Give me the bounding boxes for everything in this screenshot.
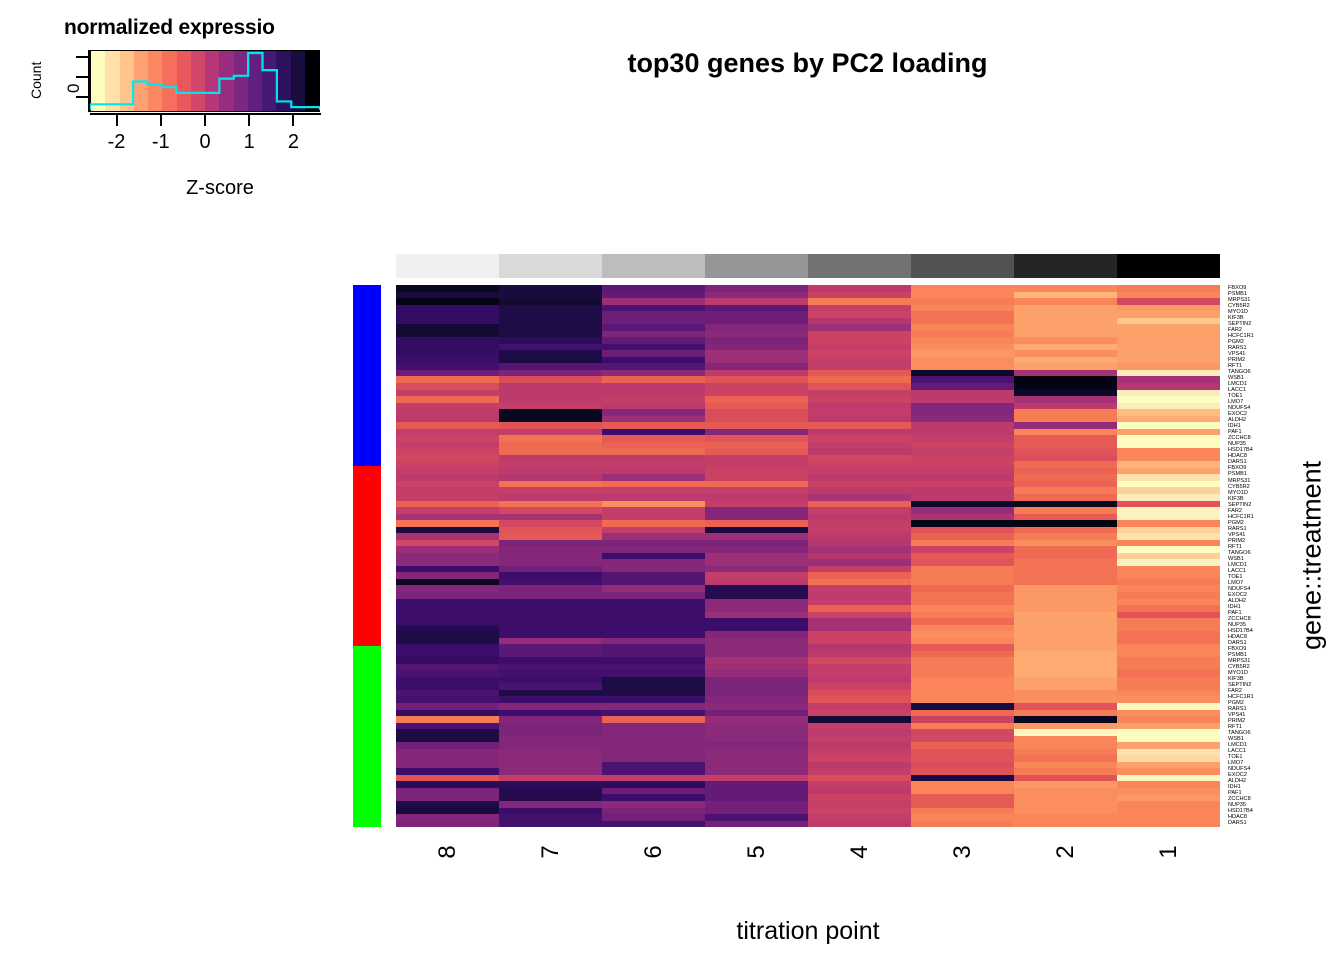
column-label-slot: 6 [602,832,705,892]
column-annotation-cell-1 [1117,254,1220,278]
heatmap-cell [1014,821,1117,828]
color-key-swatch-13 [276,51,290,111]
column-label-5: 5 [743,845,771,858]
column-label-slot: 5 [705,832,808,892]
color-key-x-axis-title: Z-score [120,177,320,200]
color-key-x-tick-1 [160,114,162,126]
heatmap-row [396,821,1220,828]
column-label-slot: 2 [1014,832,1117,892]
column-annotation-cell-2 [1014,254,1117,278]
color-key-swatch-14 [291,51,305,111]
color-key-swatch-5 [162,51,176,111]
column-label-8: 8 [434,845,462,858]
color-key-swatch-15 [305,51,319,111]
row-annotation-treatment-group-1 [353,285,381,466]
color-key-x-tick-4 [292,114,294,126]
color-key-zero-tick-label: 0 [64,84,84,93]
heatmap-cell [499,821,602,828]
color-key-swatch-9 [219,51,233,111]
column-annotation-cell-5 [705,254,808,278]
color-key-x-tick-label-1: -1 [146,131,176,154]
color-key-gradient [90,50,320,112]
color-key-swatch-11 [248,51,262,111]
gene-row-labels: FBXO9PSMB1MRPS31CYB5R2MYO1DKIF3BSEPTIN2F… [1228,285,1290,827]
heatmap-cell [808,821,911,828]
column-annotation-bar [396,254,1220,278]
column-label-slot: 3 [911,832,1014,892]
row-annotation-treatment-group-3 [353,646,381,827]
column-label-6: 6 [640,845,668,858]
column-label-slot: 7 [499,832,602,892]
color-key-swatch-6 [177,51,191,111]
heatmap-cell [396,821,499,828]
color-key-count-axis-label: Count [27,52,45,108]
color-key-x-tick-label-0: -2 [102,131,132,154]
gene-label: DARS1 [1228,820,1290,826]
color-key-y-tick [76,76,89,78]
heatmap-cell [1117,821,1220,828]
row-annotation-treatment-group-2 [353,466,381,647]
color-key-x-tick-label-3: 1 [234,131,264,154]
color-key-swatch-0 [91,51,105,111]
color-key-swatch-2 [120,51,134,111]
column-annotation-cell-4 [808,254,911,278]
column-annotation-cell-7 [499,254,602,278]
color-key-swatch-1 [105,51,119,111]
heatmap-cell [705,821,808,828]
y-axis-title: gene::treatment [1292,330,1332,780]
color-key-swatch-8 [205,51,219,111]
column-tick-labels: 87654321 [396,832,1220,892]
color-key-y-tick [76,56,89,58]
column-annotation-cell-3 [911,254,1014,278]
heatmap-cell [911,821,1014,828]
row-annotation-bar [353,285,381,827]
column-label-1: 1 [1155,845,1183,858]
color-key-x-tick-2 [204,114,206,126]
color-key-x-tick-label-4: 2 [278,131,308,154]
color-key-swatch-3 [134,51,148,111]
color-key-x-tick-label-2: 0 [190,131,220,154]
column-label-slot: 1 [1117,832,1220,892]
color-key-swatch-12 [262,51,276,111]
color-key-swatch-7 [191,51,205,111]
column-label-slot: 4 [808,832,911,892]
column-annotation-cell-6 [602,254,705,278]
column-label-slot: 8 [396,832,499,892]
heatmap-cell [602,821,705,828]
color-key-title: normalized expressio [64,16,364,40]
heatmap-grid [396,285,1220,827]
color-key: normalized expressio Count 0 -2-1012 Z-s… [0,0,400,215]
page-title: top30 genes by PC2 loading [395,48,1220,79]
column-label-4: 4 [846,845,874,858]
color-key-y-tick [76,96,89,98]
color-key-swatch-10 [234,51,248,111]
x-axis-title: titration point [396,917,1220,946]
color-key-x-tick-3 [248,114,250,126]
column-annotation-cell-8 [396,254,499,278]
color-key-x-tick-0 [116,114,118,126]
column-label-3: 3 [949,845,977,858]
column-label-7: 7 [537,845,565,858]
color-key-swatch-4 [148,51,162,111]
column-label-2: 2 [1052,845,1080,858]
